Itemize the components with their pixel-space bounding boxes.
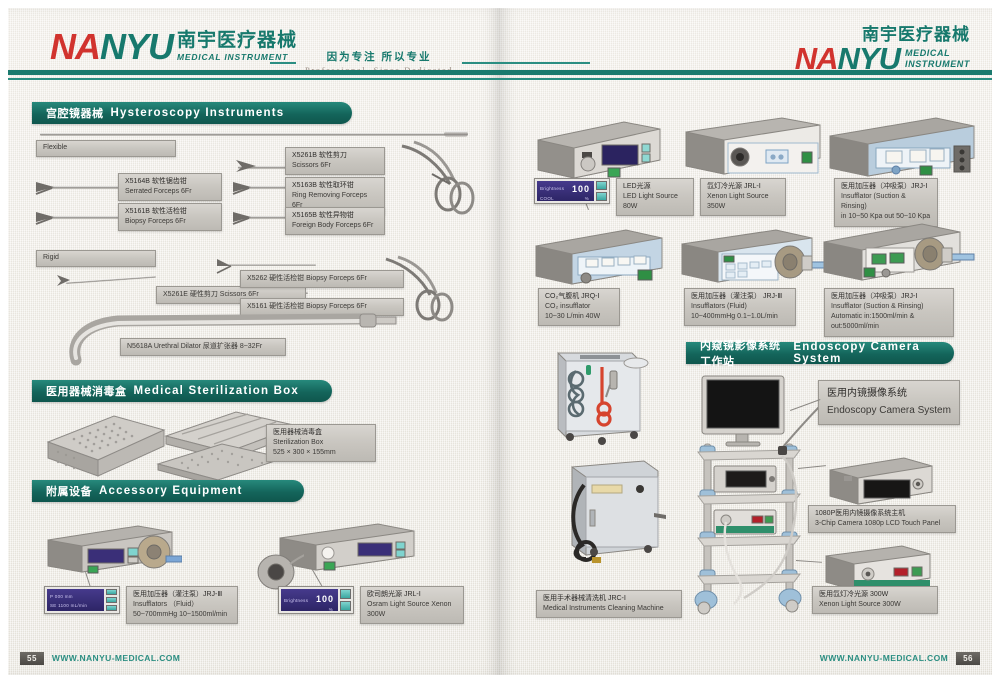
banner-sterilization-cn: 医用器械消毒盒 [46,383,127,399]
group-label-flexible: Flexible [36,140,176,157]
banner-sterilization: 医用器械消毒盒 Medical Sterilization Box [32,380,332,402]
caption-xenon-300w: 医用氙灯冷光源 300W Xenon Light Source 300W [812,586,938,614]
lcd-button-enter[interactable] [106,605,117,611]
footer-left: 55 WWW.NANYU-MEDICAL.COM [8,651,180,665]
caption-camera-system-main: 医用内镜摄像系统 Endoscopy Camera System [818,380,960,425]
caption-scissors-flexible: X5261B 软性剪刀 Scissors 6Fr [285,147,385,175]
tagline-dash-left [270,62,296,64]
banner-sterilization-en: Medical Sterilization Box [134,385,299,397]
banner-hysteroscopy-en: Hysteroscopy Instruments [111,107,285,119]
banner-camera-system-en: Endoscopy Camera System [793,341,928,365]
lcd-panel-led: Brightness 100 COOL % [534,178,610,204]
sterilization-box-closed-art [40,408,170,483]
caption-insufflator-fluid-pump: 医用加压器（灌注泵） JRJ-Ⅲ Insufflators (Fluid) 10… [684,288,796,326]
lcd-button-down[interactable] [596,192,607,201]
page-number-left: 55 [20,652,44,665]
endoscopy-trolley-art [682,372,832,622]
insufflator-suction-auto-device-art [818,218,983,296]
forceps-jaw-icon [34,210,56,226]
caption-urethral-dilator: N5618A Urethral Dilator 尿道扩张器 8~32Fr [120,338,286,356]
lcd-button-up[interactable] [106,589,117,595]
caption-cleaning-machine: 医用手术器械清洗机 JRC-Ⅰ Medical Instruments Clea… [536,590,682,618]
forceps-jaw-icon [231,180,253,196]
caption-insufflator-suction-auto: 医用加压器（冲吸泵）JRJ-Ⅰ Insufflator (Suction & R… [824,288,954,337]
catalog-spread: NANYU 南宇医疗器械 MEDICAL INSTRUMENT 因为专注 所以专… [0,0,1000,683]
brand-chinese-name: 南宇医疗器械 [177,31,297,50]
lcd-button-group[interactable] [106,589,117,611]
xenon-light-source-device-art [678,110,828,188]
caption-foreign-body-forceps: X5165B 软性异物钳 Foreign Body Forceps 6Fr [285,207,385,235]
co2-insufflator-device-art [530,222,670,298]
banner-camera-system-cn: 内窥镜影像系统工作站 [700,337,786,369]
lcd-button-group[interactable] [340,589,351,611]
banner-camera-system: 内窥镜影像系统工作站 Endoscopy Camera System [686,342,954,364]
lcd-button-up[interactable] [340,589,351,599]
lcd-button-up[interactable] [596,181,607,190]
website-url-right[interactable]: WWW.NANYU-MEDICAL.COM [820,653,948,663]
footer-right: WWW.NANYU-MEDICAL.COM 56 [820,651,992,665]
caption-sterilization-box: 医用器械消毒盒 Sterilization Box 525 × 300 × 15… [266,424,376,462]
ring-forceps-handle-art [388,140,498,220]
lcd-button-down[interactable] [106,597,117,603]
tagline-chinese: 因为专注 所以专业 [305,52,453,64]
lcd-screen: P 000 mm SE 1100 mL/min [47,589,104,611]
cleaning-machine-top-art [540,345,650,455]
page-number-right: 56 [956,652,980,665]
lcd-screen: Brightness 100 % [281,589,338,611]
lcd-screen: Brightness 100 COOL % [537,181,594,201]
brand-wordmark: NANYU [50,30,173,64]
banner-accessory-cn: 附属设备 [46,483,92,499]
caption-biopsy-forceps-flexible: X5161B 软性活检钳 Biopsy Forceps 6Fr [118,203,222,231]
website-url-left[interactable]: WWW.NANYU-MEDICAL.COM [52,653,180,663]
caption-osram-light-source: 欧司朗光源 JRL-Ⅰ Osram Light Source Xenon 300… [360,586,464,624]
banner-accessory: 附属设备 Accessory Equipment [32,480,304,502]
group-label-rigid: Rigid [36,250,156,267]
camera-host-device-art [822,452,942,512]
caption-camera-host: 1080P医用内镜摄像系统主机 3-Chip Camera 1080p LCD … [808,505,956,533]
lcd-button-group[interactable] [596,181,607,201]
caption-co2-insufflator: CO₂气腹机 JRQ-Ⅰ CO₂ insufflator 10~30 L/min… [538,288,620,326]
banner-accessory-en: Accessory Equipment [99,485,243,497]
banner-hysteroscopy: 宫腔镜器械 Hysteroscopy Instruments [32,102,352,124]
lcd-panel-insufflator: P 000 mm SE 1100 mL/min [44,586,120,614]
cleaning-machine-bottom-art [548,455,668,565]
lcd-button-down[interactable] [340,601,351,611]
masthead-rule-thin [8,78,992,80]
insufflator-fluid-device-art [42,512,182,582]
brand-logo-right: 南宇医疗器械 NANYU MEDICAL INSTRUMENT [795,26,970,73]
banner-hysteroscopy-cn: 宫腔镜器械 [46,105,104,121]
lcd-panel-light-source: Brightness 100 % [278,586,354,614]
forceps-jaw-icon [231,210,253,226]
forceps-jaw-icon [215,258,233,274]
brand-logo-left: NANYU 南宇医疗器械 MEDICAL INSTRUMENT [50,30,297,64]
caption-xenon-light-source: 氙灯冷光源 JRL-Ⅰ Xenon Light Source 350W [700,178,786,216]
caption-rigid-biopsy-x5262: X5262 硬性活检钳 Biopsy Forceps 6Fr [240,270,404,288]
masthead: NANYU 南宇医疗器械 MEDICAL INSTRUMENT 因为专注 所以专… [8,8,992,78]
caption-insufflator-fluid: 医用加压器（灌注泵）JRJ-Ⅲ Insufflators （Fluid） 50~… [126,586,238,624]
forceps-jaw-icon [34,180,56,196]
caption-serrated-forceps: X5164B 软性锯齿钳 Serrated Forceps 6Fr [118,173,222,201]
masthead-rule-thick [8,70,992,75]
scissors-jaw-icon [232,158,258,174]
tagline-dash-right [462,62,590,64]
scissors-jaw-icon [54,274,72,288]
